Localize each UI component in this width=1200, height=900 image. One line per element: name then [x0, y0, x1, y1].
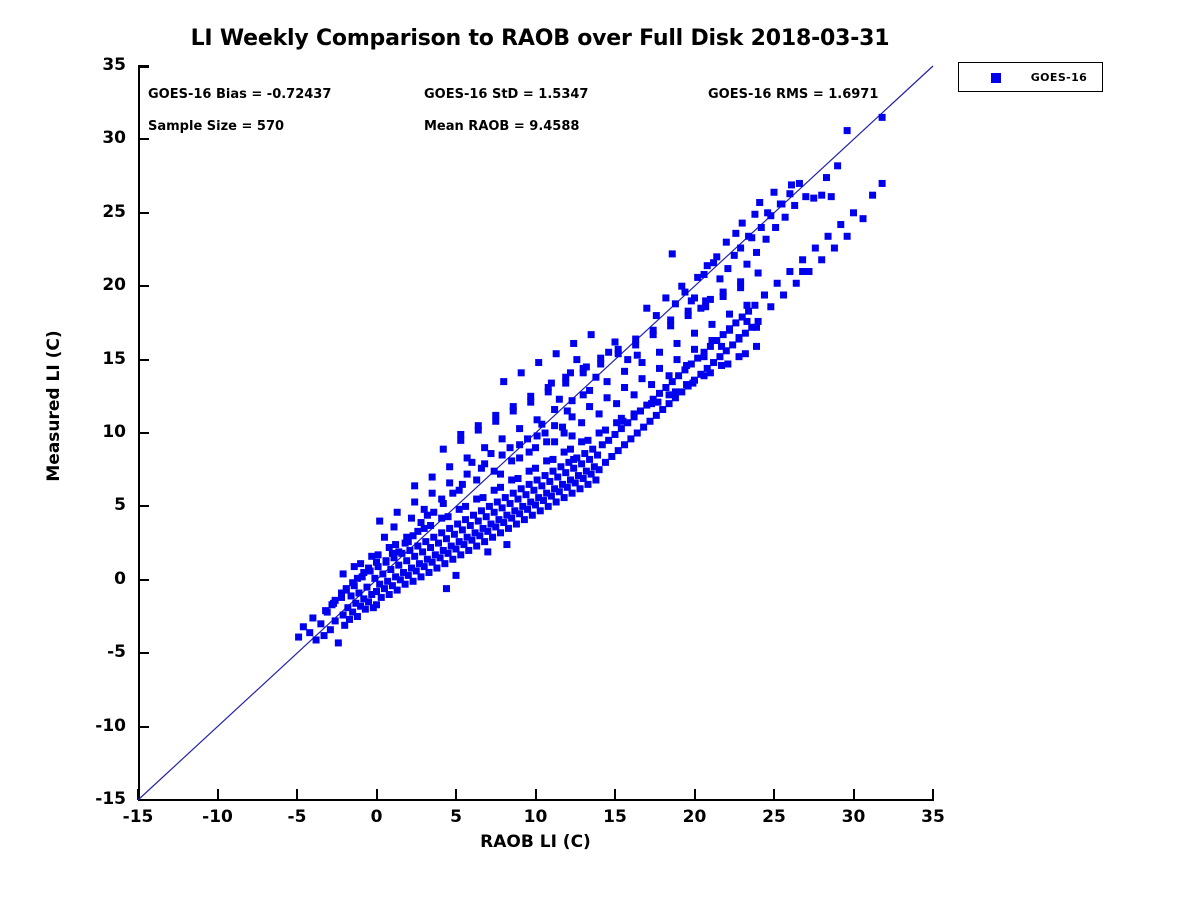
scatter-point — [656, 349, 663, 356]
scatter-point — [681, 289, 688, 296]
scatter-point — [710, 259, 717, 266]
scatter-point — [440, 446, 447, 453]
scatter-point — [662, 384, 669, 391]
scatter-point — [704, 262, 711, 269]
x-tick-label-35: 35 — [893, 807, 973, 827]
scatter-point — [425, 569, 432, 576]
scatter-point — [395, 562, 402, 569]
scatter-points-group — [295, 114, 886, 647]
scatter-point — [650, 331, 657, 338]
scatter-point — [335, 639, 342, 646]
scatter-point — [755, 269, 762, 276]
scatter-point — [548, 380, 555, 387]
scatter-point — [592, 374, 599, 381]
scatter-point — [443, 535, 450, 542]
scatter-point — [578, 419, 585, 426]
scatter-point — [731, 252, 738, 259]
scatter-point — [295, 634, 302, 641]
scatter-point — [737, 284, 744, 291]
scatter-point — [577, 485, 584, 492]
scatter-point — [459, 481, 466, 488]
scatter-point — [763, 236, 770, 243]
scatter-point — [793, 280, 800, 287]
scatter-point — [483, 513, 490, 520]
scatter-point — [707, 369, 714, 376]
scatter-point — [538, 482, 545, 489]
scatter-point — [526, 449, 533, 456]
scatter-point — [569, 432, 576, 439]
scatter-point — [513, 521, 520, 528]
scatter-point — [317, 620, 324, 627]
scatter-point — [701, 353, 708, 360]
scatter-point — [669, 250, 676, 257]
scatter-point — [751, 211, 758, 218]
scatter-point — [672, 300, 679, 307]
x-tick-label-20: 20 — [655, 807, 735, 827]
scatter-point — [796, 180, 803, 187]
scatter-point — [497, 529, 504, 536]
scatter-point — [491, 509, 498, 516]
scatter-point — [332, 617, 339, 624]
scatter-point — [453, 572, 460, 579]
scatter-point — [556, 396, 563, 403]
scatter-point — [554, 474, 561, 481]
scatter-point — [674, 356, 681, 363]
y-tick-label-10: 10 — [102, 422, 126, 442]
scatter-point — [535, 359, 542, 366]
scatter-point — [672, 388, 679, 395]
scatter-point — [621, 368, 628, 375]
scatter-point — [718, 362, 725, 369]
scatter-point — [879, 114, 886, 121]
scatter-point — [340, 570, 347, 577]
scatter-point — [543, 438, 550, 445]
scatter-point — [489, 534, 496, 541]
scatter-point — [586, 403, 593, 410]
scatter-point — [732, 319, 739, 326]
scatter-point — [446, 463, 453, 470]
scatter-point — [381, 534, 388, 541]
scatter-point — [433, 565, 440, 572]
scatter-point — [761, 292, 768, 299]
scatter-point — [602, 427, 609, 434]
scatter-point — [825, 233, 832, 240]
stat-rms: GOES-16 RMS = 1.6971 — [708, 87, 878, 102]
scatter-point — [346, 616, 353, 623]
scatter-point — [497, 471, 504, 478]
scatter-point — [608, 453, 615, 460]
scatter-point — [605, 437, 612, 444]
scatter-point — [831, 245, 838, 252]
scatter-point — [383, 557, 390, 564]
x-tick-label--5: -5 — [257, 807, 337, 827]
scatter-point — [743, 302, 750, 309]
scatter-point — [646, 418, 653, 425]
scatter-point — [441, 560, 448, 567]
scatter-point — [561, 449, 568, 456]
scatter-point — [473, 543, 480, 550]
scatter-point — [378, 594, 385, 601]
scatter-point — [823, 174, 830, 181]
scatter-point — [689, 380, 696, 387]
stat-sample: Sample Size = 570 — [148, 119, 284, 134]
scatter-point — [538, 421, 545, 428]
scatter-point — [567, 446, 574, 453]
scatter-point — [631, 410, 638, 417]
stat-bias: GOES-16 Bias = -0.72437 — [148, 87, 331, 102]
scatter-point — [653, 412, 660, 419]
scatter-point — [321, 632, 328, 639]
scatter-point — [667, 322, 674, 329]
scatter-point — [491, 468, 498, 475]
y-tick-label--15: -15 — [95, 789, 126, 809]
scatter-point — [837, 221, 844, 228]
scatter-point — [685, 312, 692, 319]
y-tick-label-20: 20 — [102, 275, 126, 295]
scatter-point — [418, 573, 425, 580]
scatter-point — [764, 209, 771, 216]
scatter-point — [516, 454, 523, 461]
scatter-point — [537, 507, 544, 514]
scatter-point — [457, 551, 464, 558]
scatter-point — [559, 424, 566, 431]
scatter-point — [438, 515, 445, 522]
y-tick-label-35: 35 — [102, 55, 126, 75]
scatter-point — [799, 268, 806, 275]
scatter-point — [451, 531, 458, 538]
scatter-point — [419, 548, 426, 555]
scatter-point — [724, 265, 731, 272]
scatter-point — [701, 271, 708, 278]
scatter-point — [634, 352, 641, 359]
scatter-point — [507, 444, 514, 451]
scatter-point — [424, 512, 431, 519]
scatter-point — [467, 522, 474, 529]
scatter-point — [570, 340, 577, 347]
scatter-point — [580, 391, 587, 398]
scatter-point — [551, 406, 558, 413]
x-tick-label--10: -10 — [178, 807, 258, 827]
scatter-point — [499, 504, 506, 511]
scatter-point — [340, 612, 347, 619]
scatter-point — [615, 447, 622, 454]
scatter-point — [774, 280, 781, 287]
scatter-point — [445, 513, 452, 520]
scatter-point — [480, 494, 487, 501]
scatter-point — [395, 548, 402, 555]
scatter-point — [780, 292, 787, 299]
scatter-point — [389, 550, 396, 557]
scatter-point — [564, 407, 571, 414]
scatter-point — [708, 337, 715, 344]
scatter-point — [515, 496, 522, 503]
scatter-point — [553, 350, 560, 357]
scatter-point — [683, 362, 690, 369]
y-tick-label--5: -5 — [107, 642, 126, 662]
scatter-point — [691, 330, 698, 337]
scatter-point — [573, 356, 580, 363]
scatter-point — [592, 476, 599, 483]
scatter-point — [654, 399, 661, 406]
scatter-point — [753, 324, 760, 331]
scatter-point — [736, 353, 743, 360]
scatter-point — [812, 245, 819, 252]
stat-mean: Mean RAOB = 9.4588 — [424, 119, 579, 134]
scatter-point — [313, 636, 320, 643]
scatter-point — [322, 607, 329, 614]
scatter-point — [475, 518, 482, 525]
scatter-point — [553, 499, 560, 506]
scatter-point — [743, 318, 750, 325]
scatter-point — [532, 444, 539, 451]
scatter-point — [588, 331, 595, 338]
scatter-point — [562, 469, 569, 476]
scatter-point — [427, 544, 434, 551]
scatter-point — [468, 459, 475, 466]
scatter-point — [810, 195, 817, 202]
scatter-point — [624, 356, 631, 363]
scatter-point — [691, 294, 698, 301]
scatter-point — [716, 275, 723, 282]
scatter-point — [767, 303, 774, 310]
scatter-point — [805, 268, 812, 275]
scatter-point — [349, 579, 356, 586]
scatter-point — [584, 481, 591, 488]
scatter-point — [771, 189, 778, 196]
scatter-point — [753, 343, 760, 350]
scatter-point — [481, 444, 488, 451]
scatter-point — [551, 438, 558, 445]
scatter-point — [602, 459, 609, 466]
scatter-point — [403, 557, 410, 564]
chart-legend[interactable]: GOES-16 — [958, 62, 1103, 92]
scatter-point — [799, 256, 806, 263]
scatter-point — [306, 629, 313, 636]
scatter-point — [596, 410, 603, 417]
scatter-point — [376, 518, 383, 525]
scatter-point — [791, 202, 798, 209]
scatter-point — [648, 381, 655, 388]
scatter-point — [739, 220, 746, 227]
scatter-point — [634, 430, 641, 437]
scatter-point — [751, 302, 758, 309]
scatter-point — [510, 407, 517, 414]
scatter-point — [402, 581, 409, 588]
scatter-point — [508, 457, 515, 464]
scatter-point — [720, 293, 727, 300]
scatter-point — [375, 551, 382, 558]
scatter-point — [392, 541, 399, 548]
scatter-point — [736, 334, 743, 341]
scatter-point — [549, 456, 556, 463]
scatter-point — [844, 233, 851, 240]
scatter-point — [656, 365, 663, 372]
scatter-point — [612, 338, 619, 345]
scatter-point — [532, 465, 539, 472]
scatter-point — [615, 350, 622, 357]
scatter-point — [742, 350, 749, 357]
scatter-point — [756, 199, 763, 206]
scatter-point — [491, 487, 498, 494]
scatter-point — [418, 519, 425, 526]
y-tick-label-30: 30 — [102, 128, 126, 148]
scatter-point — [462, 503, 469, 510]
legend-label-goes16: GOES-16 — [1021, 71, 1097, 84]
scatter-point — [327, 626, 334, 633]
y-tick-label-25: 25 — [102, 202, 126, 222]
scatter-point — [604, 394, 611, 401]
scatter-point — [427, 522, 434, 529]
y-tick-label-0: 0 — [114, 569, 126, 589]
scatter-point — [604, 378, 611, 385]
scatter-point — [464, 471, 471, 478]
legend-marker-goes16-icon — [991, 73, 1001, 83]
scatter-point — [449, 556, 456, 563]
scatter-point — [737, 245, 744, 252]
scatter-point — [561, 494, 568, 501]
scatter-point — [497, 484, 504, 491]
scatter-point — [473, 496, 480, 503]
scatter-point — [408, 515, 415, 522]
scatter-point — [723, 239, 730, 246]
scatter-point — [373, 559, 380, 566]
scatter-point — [640, 424, 647, 431]
scatter-point — [758, 224, 765, 231]
scatter-data-layer — [138, 66, 933, 800]
scatter-point — [643, 305, 650, 312]
y-axis-label: Measured LI (C) — [44, 306, 64, 506]
x-tick-label-25: 25 — [734, 807, 814, 827]
y-tick-label-15: 15 — [102, 349, 126, 369]
scatter-point — [363, 584, 370, 591]
scatter-point — [656, 390, 663, 397]
scatter-point — [724, 361, 731, 368]
scatter-point — [618, 415, 625, 422]
scatter-point — [527, 399, 534, 406]
scatter-point — [612, 431, 619, 438]
scatter-point — [473, 476, 480, 483]
scatter-point — [354, 613, 361, 620]
scatter-point — [457, 437, 464, 444]
scatter-point — [516, 441, 523, 448]
scatter-point — [394, 509, 401, 516]
scatter-point — [411, 482, 418, 489]
scatter-point — [683, 381, 690, 388]
scatter-point — [786, 268, 793, 275]
y-tick-label--10: -10 — [95, 716, 126, 736]
scatter-point — [357, 560, 364, 567]
scatter-point — [621, 384, 628, 391]
scatter-point — [678, 388, 685, 395]
scatter-point — [666, 400, 673, 407]
scatter-point — [743, 261, 750, 268]
scatter-point — [778, 200, 785, 207]
scatter-point — [594, 452, 601, 459]
scatter-point — [435, 540, 442, 547]
scatter-point — [429, 474, 436, 481]
stat-std: GOES-16 StD = 1.5347 — [424, 87, 588, 102]
scatter-point — [443, 585, 450, 592]
scatter-point — [716, 353, 723, 360]
chart-title: LI Weekly Comparison to RAOB over Full D… — [0, 26, 1080, 51]
scatter-point — [478, 465, 485, 472]
scatter-point — [726, 311, 733, 318]
scatter-point — [543, 457, 550, 464]
scatter-point — [701, 372, 708, 379]
scatter-point — [411, 553, 418, 560]
scatter-point — [697, 305, 704, 312]
scatter-point — [551, 422, 558, 429]
scatter-point — [545, 503, 552, 510]
scatter-point — [583, 363, 590, 370]
scatter-point — [694, 355, 701, 362]
plot-area — [138, 66, 933, 800]
scatter-point — [627, 435, 634, 442]
scatter-point — [597, 361, 604, 368]
scatter-point — [632, 341, 639, 348]
scatter-point — [802, 193, 809, 200]
scatter-point — [708, 321, 715, 328]
scatter-point — [449, 490, 456, 497]
scatter-point — [828, 193, 835, 200]
chart-figure: LI Weekly Comparison to RAOB over Full D… — [0, 0, 1200, 900]
scatter-point — [596, 466, 603, 473]
scatter-point — [621, 441, 628, 448]
scatter-point — [605, 349, 612, 356]
scatter-point — [753, 249, 760, 256]
scatter-point — [569, 490, 576, 497]
scatter-point — [639, 359, 646, 366]
scatter-point — [503, 541, 510, 548]
scatter-point — [545, 388, 552, 395]
scatter-point — [499, 452, 506, 459]
scatter-point — [718, 343, 725, 350]
scatter-point — [578, 460, 585, 467]
scatter-point — [786, 190, 793, 197]
scatter-point — [430, 509, 437, 516]
scatter-point — [648, 400, 655, 407]
scatter-point — [834, 162, 841, 169]
scatter-point — [562, 380, 569, 387]
scatter-point — [720, 331, 727, 338]
scatter-point — [534, 432, 541, 439]
scatter-point — [653, 312, 660, 319]
scatter-point — [596, 430, 603, 437]
x-tick-label-30: 30 — [814, 807, 894, 827]
scatter-point — [526, 468, 533, 475]
scatter-point — [860, 215, 867, 222]
scatter-point — [309, 614, 316, 621]
scatter-point — [542, 430, 549, 437]
scatter-point — [487, 450, 494, 457]
scatter-point — [567, 369, 574, 376]
scatter-point — [732, 230, 739, 237]
scatter-point — [338, 590, 345, 597]
scatter-point — [411, 499, 418, 506]
scatter-point — [524, 435, 531, 442]
scatter-point — [707, 296, 714, 303]
scatter-point — [414, 528, 421, 535]
scatter-point — [394, 587, 401, 594]
scatter-point — [788, 181, 795, 188]
scatter-point — [518, 369, 525, 376]
scatter-point — [844, 127, 851, 134]
scatter-point — [666, 372, 673, 379]
scatter-point — [459, 526, 466, 533]
x-axis-label: RAOB LI (C) — [138, 832, 933, 852]
scatter-point — [662, 294, 669, 301]
scatter-point — [475, 427, 482, 434]
